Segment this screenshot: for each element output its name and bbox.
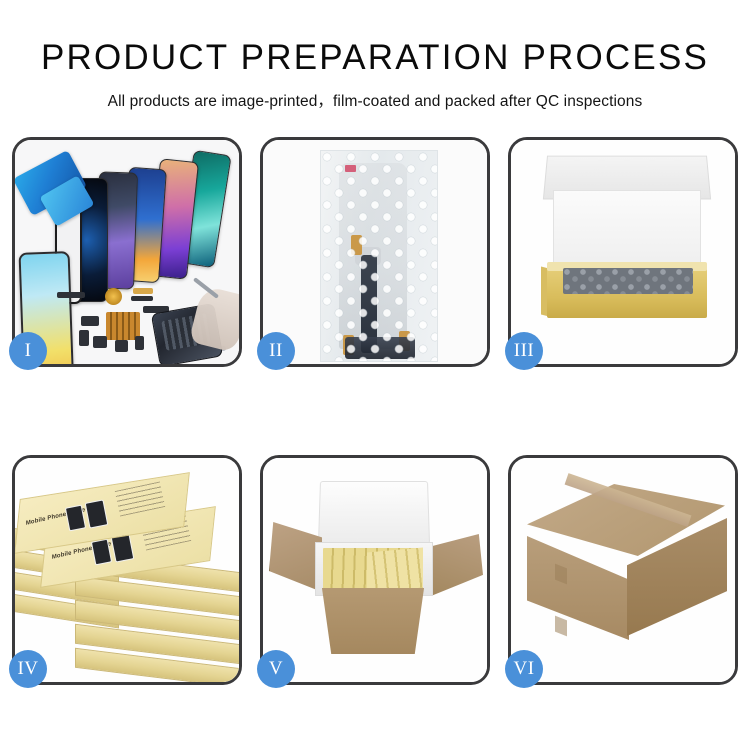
copper-coil-part bbox=[105, 288, 122, 305]
small-bracket-part bbox=[79, 330, 89, 346]
step-badge-1: I bbox=[9, 332, 47, 370]
step-badge-5: V bbox=[257, 650, 295, 688]
step-panel-4: Mobile Phone Spare Parts Mobile Phone Sp… bbox=[12, 455, 242, 685]
step-panel-5: V bbox=[260, 455, 490, 685]
gold-flex-part bbox=[133, 288, 153, 294]
step-image-3 bbox=[511, 140, 735, 364]
step-badge-2: II bbox=[257, 332, 295, 370]
process-step-grid: I II bbox=[12, 137, 738, 685]
page-subtitle: All products are image-printed，film-coat… bbox=[0, 89, 750, 111]
speaker-part bbox=[115, 340, 128, 352]
page-title: PRODUCT PREPARATION PROCESS bbox=[0, 38, 750, 78]
step-panel-2: II bbox=[260, 137, 490, 367]
styrofoam-lid bbox=[318, 481, 430, 544]
flex-tail-part bbox=[131, 296, 153, 301]
step-image-5 bbox=[263, 458, 487, 682]
step-image-6 bbox=[511, 458, 735, 682]
camera-part bbox=[135, 336, 144, 350]
connector-part bbox=[81, 316, 99, 326]
bubble-wrap-bag bbox=[320, 150, 438, 362]
grey-foam-padding bbox=[563, 268, 693, 294]
step-image-2 bbox=[263, 140, 487, 364]
step-image-4: Mobile Phone Spare Parts Mobile Phone Sp… bbox=[15, 458, 239, 682]
infographic-page: PRODUCT PREPARATION PROCESS All products… bbox=[0, 0, 750, 750]
step-panel-3: III bbox=[508, 137, 738, 367]
button-part bbox=[93, 336, 107, 348]
step-badge-6: VI bbox=[505, 650, 543, 688]
step-panel-6: VI bbox=[508, 455, 738, 685]
yellow-boxes-inside-2 bbox=[367, 548, 423, 593]
flex-cable-part bbox=[57, 292, 85, 298]
step-panel-1: I bbox=[12, 137, 242, 367]
step-badge-3: III bbox=[505, 332, 543, 370]
step-image-1 bbox=[15, 140, 239, 364]
carton-front-panel bbox=[315, 588, 431, 654]
step-badge-4: IV bbox=[9, 650, 47, 688]
bubble-texture bbox=[321, 151, 437, 361]
header: PRODUCT PREPARATION PROCESS All products… bbox=[0, 0, 750, 111]
